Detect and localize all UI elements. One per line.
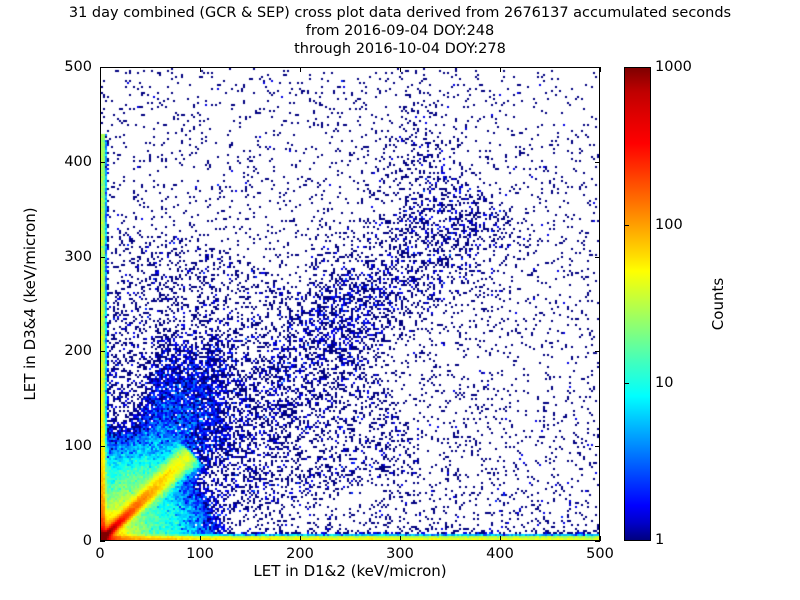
x-axis-label: LET in D1&2 (keV/micron) [100,562,600,580]
x-tick-label-0: 0 [95,546,104,562]
chart-title: 31 day combined (GCR & SEP) cross plot d… [0,4,800,58]
x-tick-label-500: 500 [586,546,614,562]
y-tick-200 [100,351,105,352]
y-tick-500 [100,67,105,68]
x-tick-top-200 [300,67,301,72]
title-line-1: 31 day combined (GCR & SEP) cross plot d… [0,4,800,22]
y-tick-400 [100,162,105,163]
x-tick-label-400: 400 [486,546,514,562]
y-tick-label-200: 200 [44,343,92,359]
y-axis-label: LET in D3&4 (keV/micron) [21,207,39,400]
x-tick-top-400 [500,67,501,72]
y-tick-right-500 [595,67,600,68]
x-tick-top-300 [400,67,401,72]
y-tick-right-200 [595,351,600,352]
y-tick-label-300: 300 [44,249,92,265]
colorbar-gradient [624,67,651,541]
colorbar-tick-label-1: 1 [655,532,664,548]
x-tick-label-300: 300 [386,546,414,562]
colorbar-label: Counts [709,278,727,330]
title-line-3: through 2016-10-04 DOY:278 [0,40,800,58]
y-tick-label-400: 400 [44,154,92,170]
colorbar-tick-1000 [624,67,629,68]
title-line-2: from 2016-09-04 DOY:248 [0,22,800,40]
y-tick-300 [100,257,105,258]
y-tick-100 [100,446,105,447]
scatter-density-plot [101,68,599,540]
colorbar: 1101001000 [624,67,651,541]
colorbar-tick-1 [624,540,629,541]
colorbar-tick-label-100: 100 [655,217,683,233]
colorbar-tick-10 [624,383,629,384]
y-tick-label-0: 0 [44,533,92,549]
x-tick-100 [200,536,201,541]
colorbar-tick-label-1000: 1000 [655,59,692,75]
x-tick-top-100 [200,67,201,72]
x-tick-200 [300,536,301,541]
colorbar-tick-100 [624,225,629,226]
plot-area [100,67,600,541]
colorbar-tick-label-10: 10 [655,375,673,391]
chart-figure: 31 day combined (GCR & SEP) cross plot d… [0,0,800,600]
y-tick-right-0 [595,541,600,542]
x-tick-label-200: 200 [286,546,314,562]
x-tick-top-500 [600,67,601,72]
y-tick-right-400 [595,162,600,163]
x-tick-400 [500,536,501,541]
y-tick-right-300 [595,257,600,258]
y-tick-0 [100,541,105,542]
y-tick-right-100 [595,446,600,447]
x-tick-500 [600,536,601,541]
x-tick-300 [400,536,401,541]
x-tick-label-100: 100 [186,546,214,562]
y-tick-label-100: 100 [44,438,92,454]
y-tick-label-500: 500 [44,59,92,75]
